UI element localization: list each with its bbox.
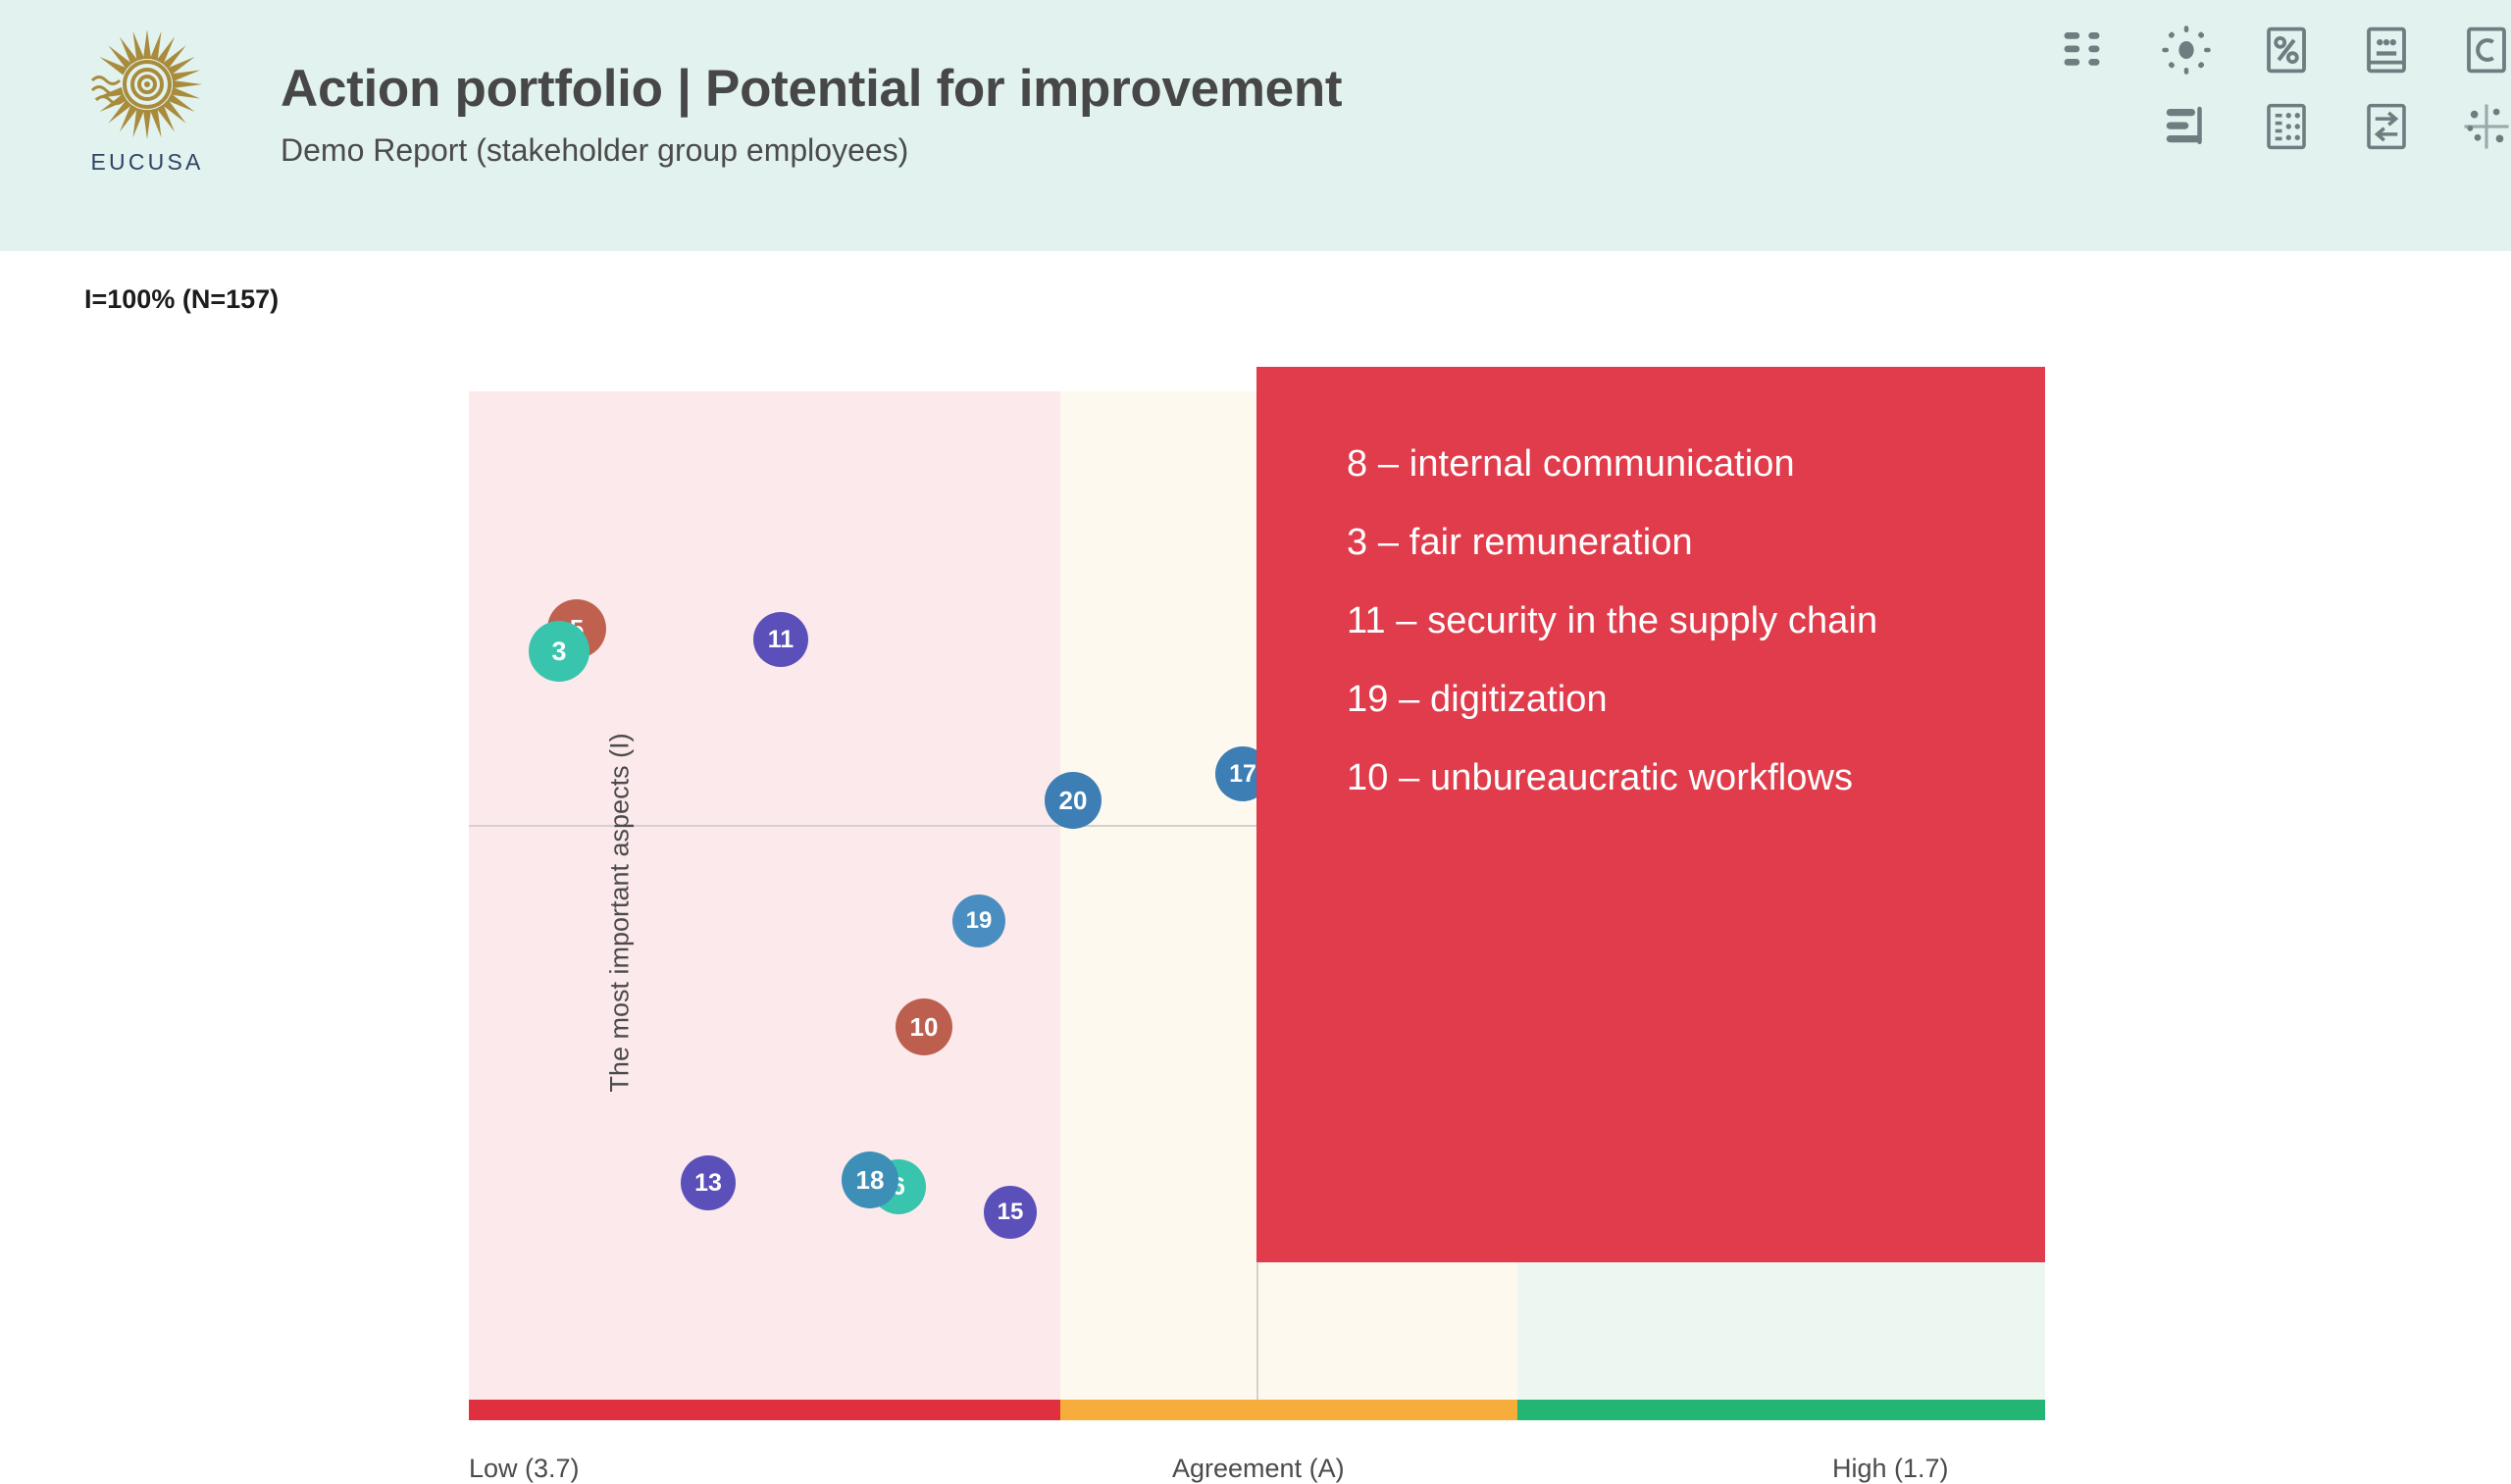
x-axis-title: Agreement (A) xyxy=(1172,1454,1345,1484)
page-title: Action portfolio | Potential for improve… xyxy=(281,61,1342,117)
list-detail-page-icon[interactable] xyxy=(2260,100,2313,153)
header-toolbar xyxy=(1883,16,2472,192)
grid-list-icon[interactable] xyxy=(2060,24,2113,77)
bubble-20[interactable]: 20 xyxy=(1045,772,1102,829)
x-axis-tick-high: High (1.7) xyxy=(1832,1454,1949,1484)
bubble-19[interactable]: 19 xyxy=(952,895,1005,947)
bubble-18[interactable]: 18 xyxy=(842,1151,898,1208)
bar-align-icon[interactable] xyxy=(2160,100,2213,153)
bubble-3[interactable]: 3 xyxy=(529,621,589,682)
percent-page-icon[interactable] xyxy=(2260,24,2313,77)
brand-name: EUCUSA xyxy=(90,149,203,176)
bubble-13[interactable]: 13 xyxy=(681,1155,736,1210)
rating-strip-high xyxy=(1517,1400,2045,1420)
sun-burst-icon[interactable] xyxy=(2160,24,2213,77)
highlight-overlay-panel[interactable]: 8 – internal communication3 – fair remun… xyxy=(1256,367,2045,1262)
x-axis-tick-low: Low (3.7) xyxy=(469,1454,580,1484)
overlay-legend-item: 11 – security in the supply chain xyxy=(1347,600,2045,642)
title-block: Action portfolio | Potential for improve… xyxy=(281,61,1342,169)
overlay-legend-item: 8 – internal communication xyxy=(1347,443,2045,486)
plot-area: 3511201719101318615223416972422211214 8 … xyxy=(469,391,2045,1419)
action-portfolio-chart: 3511201719101318615223416972422211214 8 … xyxy=(0,251,2511,1412)
comment-page-icon[interactable] xyxy=(2360,24,2413,77)
brand-logo: EUCUSA xyxy=(69,26,226,176)
overlay-legend-item: 19 – digitization xyxy=(1347,679,2045,721)
bubble-10[interactable]: 10 xyxy=(896,998,952,1055)
page-header: EUCUSA Action portfolio | Potential for … xyxy=(0,0,2511,251)
sunburst-logo-icon xyxy=(88,26,206,143)
arrows-exchange-page-icon[interactable] xyxy=(2360,100,2413,153)
bubble-15[interactable]: 15 xyxy=(984,1186,1037,1239)
letter-c-page-icon[interactable] xyxy=(2460,24,2511,77)
scatter-cross-icon[interactable] xyxy=(2460,100,2511,153)
overlay-legend-item: 3 – fair remuneration xyxy=(1347,522,2045,564)
bubble-11[interactable]: 11 xyxy=(753,612,808,667)
rating-strip-low xyxy=(469,1400,1060,1420)
rating-strip-medium xyxy=(1060,1400,1517,1420)
page-subtitle: Demo Report (stakeholder group employees… xyxy=(281,132,1342,169)
overlay-legend-item: 10 – unbureaucratic workflows xyxy=(1347,757,2045,799)
y-axis-title: The most important aspects (I) xyxy=(605,658,636,1168)
